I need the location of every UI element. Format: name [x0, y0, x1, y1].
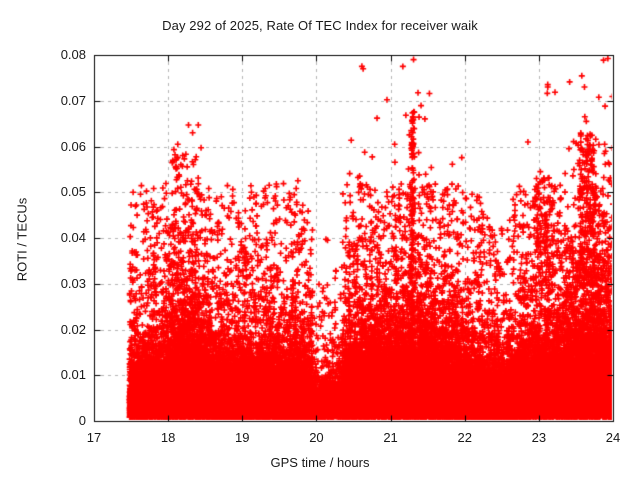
- y-tick-label: 0: [2, 413, 86, 428]
- x-tick-label: 17: [69, 430, 119, 445]
- y-tick-label: 0.01: [2, 367, 86, 382]
- y-tick-label: 0.02: [2, 322, 86, 337]
- y-tick-label: 0.05: [2, 184, 86, 199]
- y-tick-label: 0.03: [2, 276, 86, 291]
- y-tick-label: 0.07: [2, 93, 86, 108]
- x-tick-label: 22: [440, 430, 490, 445]
- x-tick-label: 18: [143, 430, 193, 445]
- y-tick-label: 0.08: [2, 47, 86, 62]
- chart-page: Day 292 of 2025, Rate Of TEC Index for r…: [0, 0, 640, 480]
- x-axis-label: GPS time / hours: [0, 455, 640, 470]
- x-tick-label: 20: [291, 430, 341, 445]
- x-tick-label: 19: [217, 430, 267, 445]
- x-tick-label: 21: [366, 430, 416, 445]
- x-tick-label: 23: [514, 430, 564, 445]
- y-tick-label: 0.04: [2, 230, 86, 245]
- x-tick-label: 24: [588, 430, 638, 445]
- scatter-plot-canvas: [0, 0, 640, 480]
- y-tick-label: 0.06: [2, 139, 86, 154]
